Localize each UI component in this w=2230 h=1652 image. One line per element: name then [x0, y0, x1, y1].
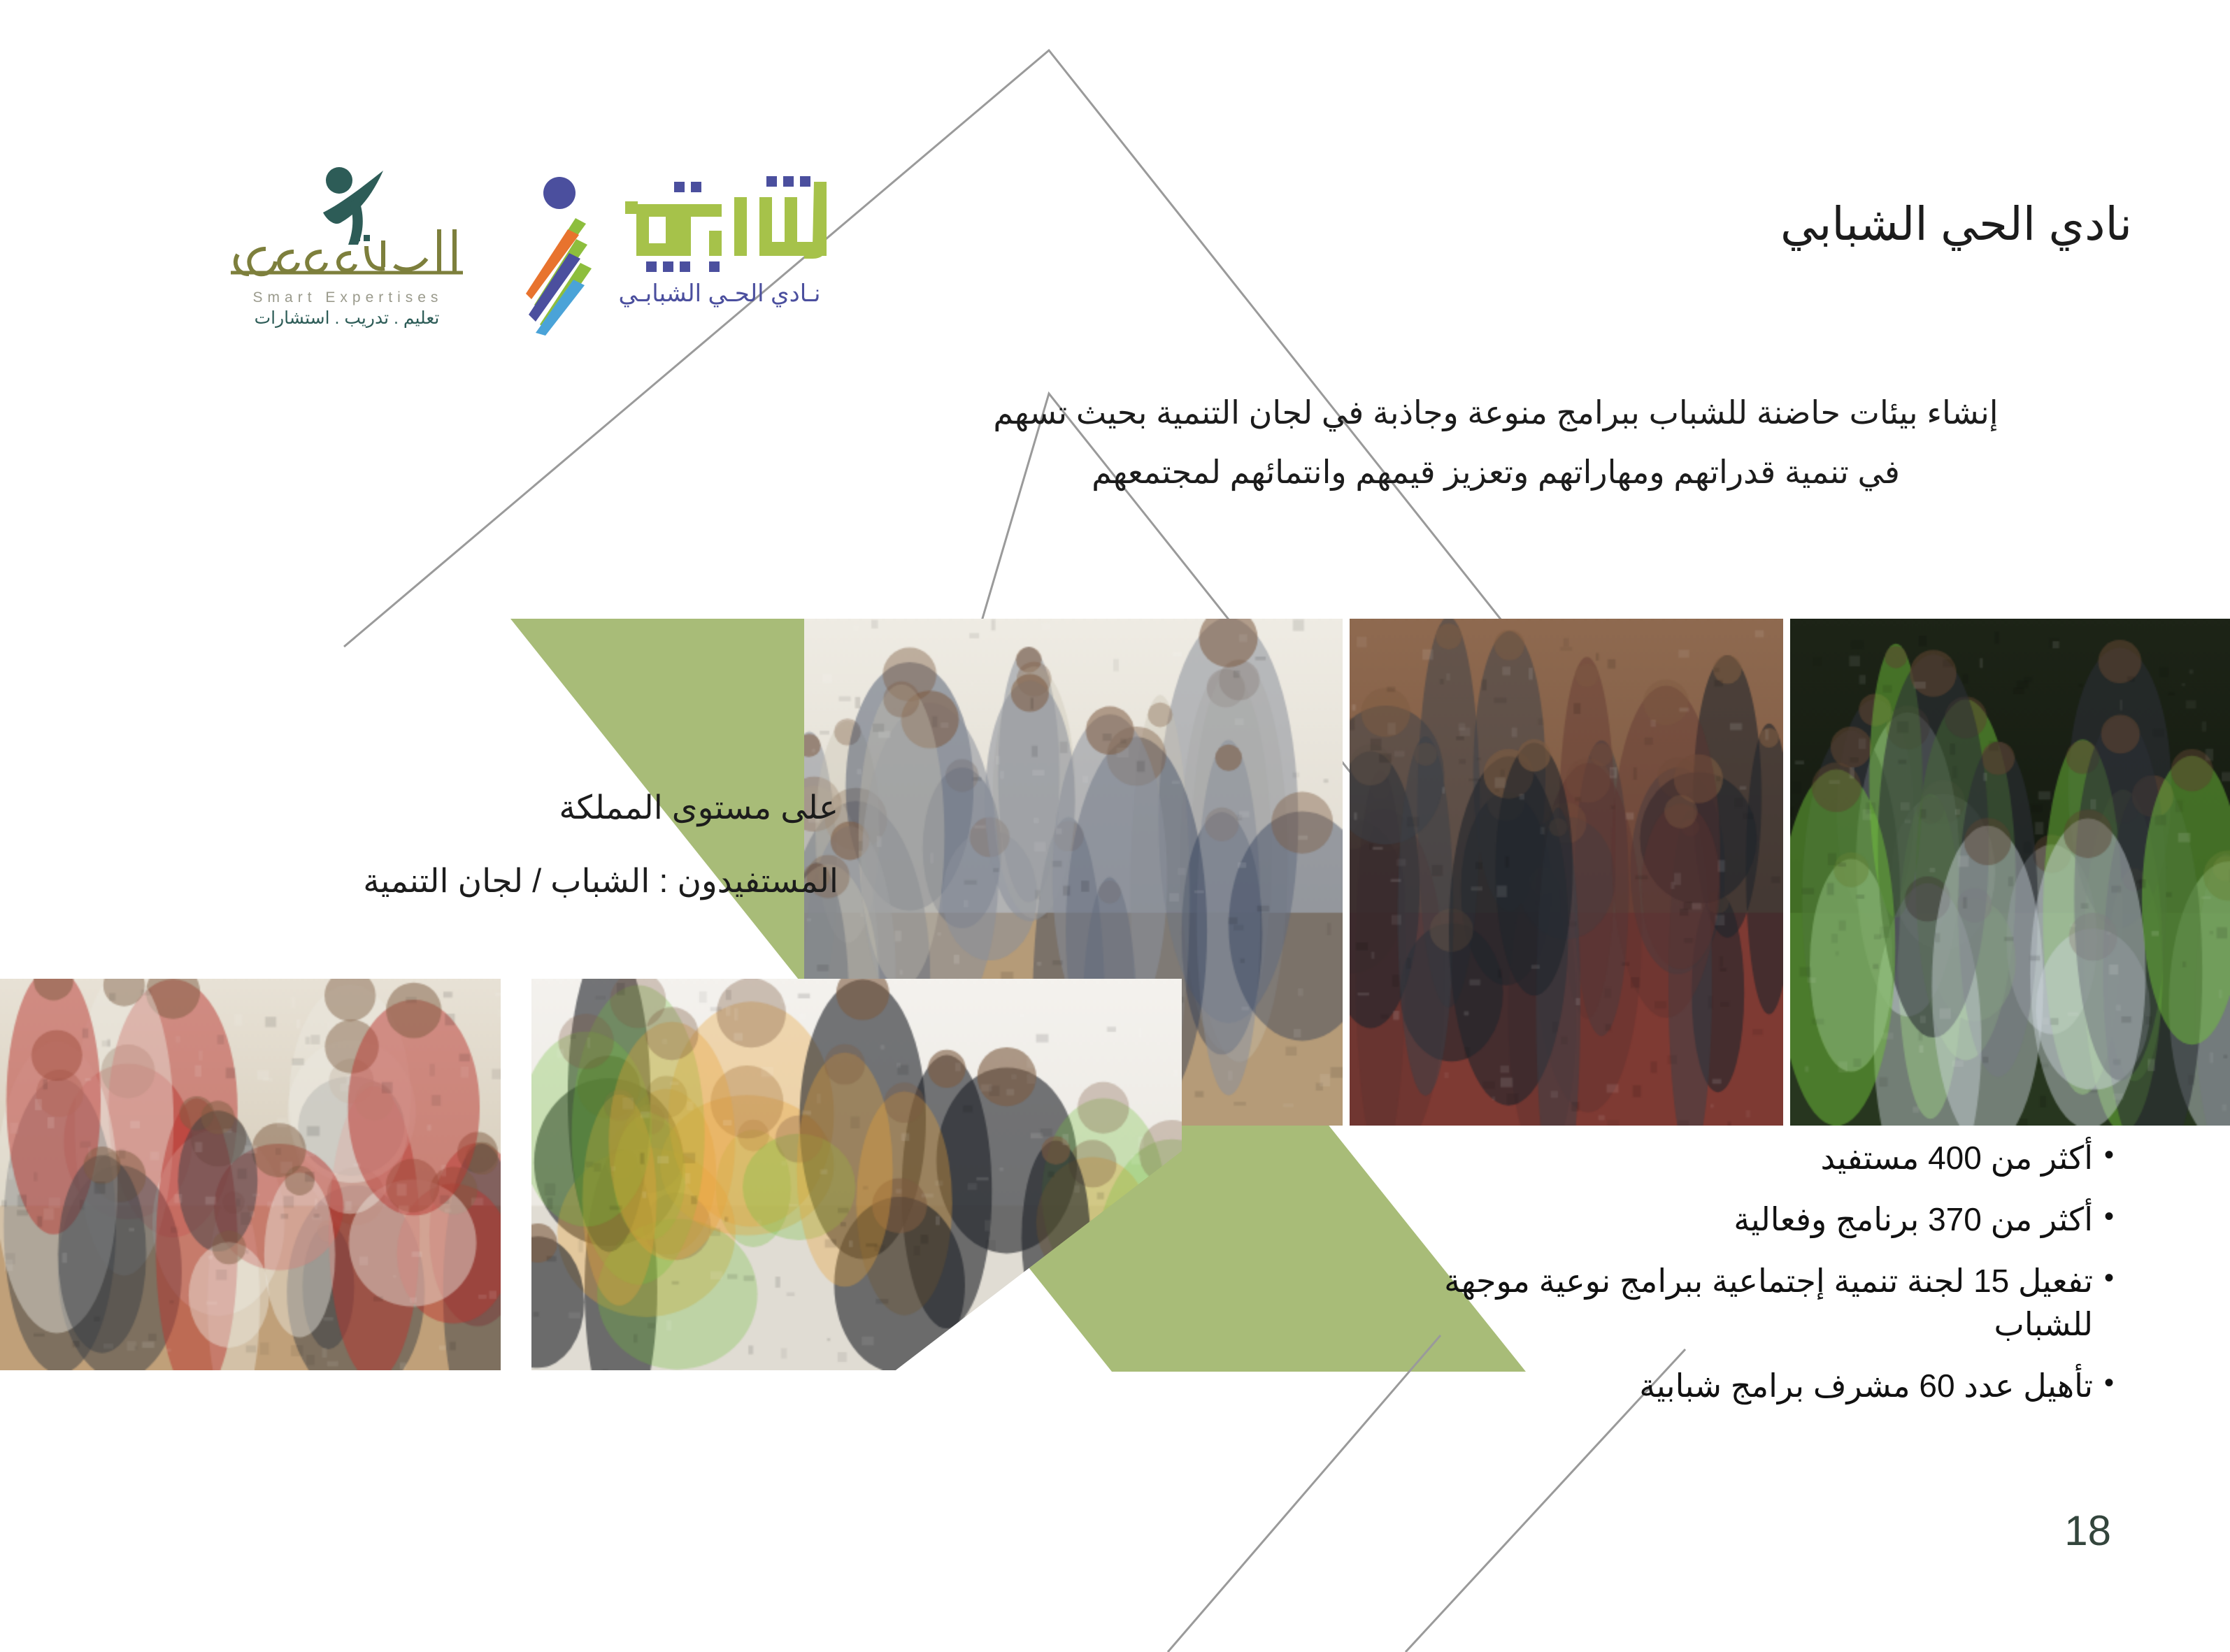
- achievement-text: تفعيل 15 لجنة تنمية إجتماعية ببرامج نوعي…: [1384, 1259, 2093, 1346]
- achievements-list: • أكثر من 400 مستفيد • أكثر من 370 برنام…: [1384, 1136, 2125, 1425]
- list-item: • أكثر من 370 برنامج وفعالية: [1384, 1198, 2125, 1241]
- intro-line-2: في تنمية قدراتهم ومهاراتهم وتعزيز قيمهم …: [859, 443, 2132, 502]
- logo-row: نـادي الحـي الشبابـي: [210, 162, 842, 336]
- photo-trainer-whiteboard: [531, 979, 1182, 1370]
- bullet-icon: •: [2093, 1136, 2125, 1174]
- logo-smart-tagline: تعليم . تدريب . استشارات: [217, 308, 477, 329]
- logo-smart-expertises: Smart Expertises تعليم . تدريب . استشارا…: [210, 162, 483, 330]
- fan-starburst-icon: [517, 175, 601, 336]
- scope-line-1: على مستوى المملكة: [104, 790, 838, 824]
- list-item: • تأهيل عدد 60 مشرف برامج شبابية: [1384, 1364, 2125, 1407]
- wordmark-shababiya: [604, 169, 842, 274]
- list-item: • تفعيل 15 لجنة تنمية إجتماعية ببرامج نو…: [1384, 1259, 2125, 1346]
- page-number: 18: [2064, 1507, 2111, 1555]
- photo-outdoor-youth-group: [1790, 619, 2230, 1126]
- page-title: نادي الحي الشبابي: [1780, 197, 2132, 251]
- achievement-text: تأهيل عدد 60 مشرف برامج شبابية: [1384, 1364, 2093, 1407]
- wordmark-smart-expertises-en: Smart Expertises: [224, 289, 472, 306]
- bullet-icon: •: [2093, 1364, 2125, 1402]
- photo-hall-seated-audience: [1350, 619, 1783, 1126]
- logo-shababiya-subtitle: نـادي الحـي الشبابـي: [597, 280, 842, 308]
- intro-paragraph: إنشاء بيئات حاضنة للشباب ببرامج منوعة وج…: [859, 383, 2132, 502]
- intro-line-1: إنشاء بيئات حاضنة للشباب ببرامج منوعة وج…: [859, 383, 2132, 443]
- slide-root: نـادي الحـي الشبابـي: [0, 0, 2230, 1652]
- bullet-icon: •: [2093, 1198, 2125, 1235]
- logo-shababiya: نـادي الحـي الشبابـي: [513, 162, 842, 336]
- bullet-icon: •: [2093, 1259, 2125, 1297]
- list-item: • أكثر من 400 مستفيد: [1384, 1136, 2125, 1179]
- photo-panel-discussion: [0, 979, 501, 1370]
- wordmark-smart-expertises-ar: [217, 217, 477, 294]
- scope-block: على مستوى المملكة المستفيدون : الشباب / …: [104, 790, 838, 898]
- achievement-text: أكثر من 400 مستفيد: [1384, 1136, 2093, 1179]
- achievement-text: أكثر من 370 برنامج وفعالية: [1384, 1198, 2093, 1241]
- scope-line-2: المستفيدون : الشباب / لجان التنمية: [104, 863, 838, 898]
